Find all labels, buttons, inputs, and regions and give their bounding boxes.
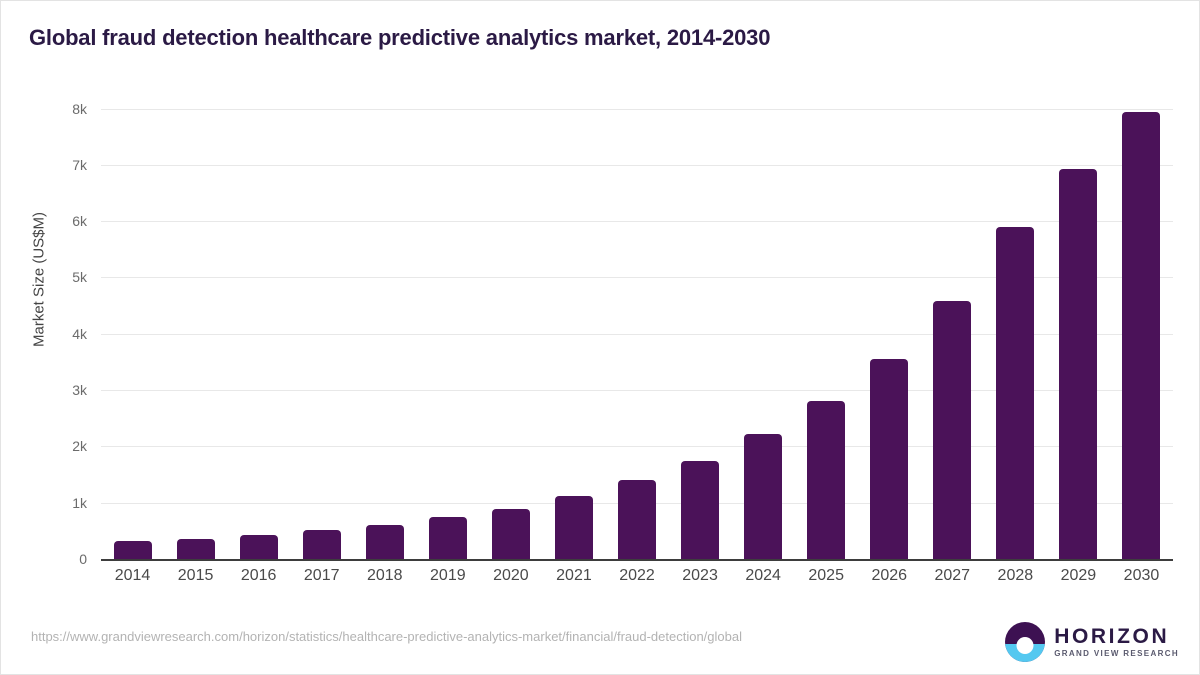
bar[interactable] xyxy=(681,461,719,559)
x-axis-tick-label: 2020 xyxy=(493,567,529,585)
bar[interactable] xyxy=(996,227,1034,559)
x-axis-tick-label: 2017 xyxy=(304,567,340,585)
chart-page: Global fraud detection healthcare predic… xyxy=(0,0,1200,675)
x-axis-tick-label: 2026 xyxy=(871,567,907,585)
horizon-sun-circle-icon xyxy=(1005,622,1045,662)
bar[interactable] xyxy=(744,434,782,559)
x-axis-tick-label: 2028 xyxy=(998,567,1034,585)
bar[interactable] xyxy=(240,535,278,559)
bar[interactable] xyxy=(177,539,215,559)
bar[interactable] xyxy=(807,401,845,559)
y-axis-tick-label: 0 xyxy=(43,551,87,567)
x-axis-tick-label: 2019 xyxy=(430,567,466,585)
footer: https://www.grandviewresearch.com/horizo… xyxy=(1,612,1200,674)
y-axis-tick-label: 8k xyxy=(43,101,87,117)
bar[interactable] xyxy=(933,301,971,559)
x-axis-tick-labels: 2014201520162017201820192020202120222023… xyxy=(101,567,1173,593)
horizon-logo: HORIZON GRAND VIEW RESEARCH xyxy=(1005,620,1179,664)
bar[interactable] xyxy=(303,530,341,559)
logo-text: HORIZON GRAND VIEW RESEARCH xyxy=(1054,626,1179,658)
y-axis-tick-label: 1k xyxy=(43,495,87,511)
y-axis-tick-label: 6k xyxy=(43,213,87,229)
y-axis-tick-label: 3k xyxy=(43,382,87,398)
x-axis-tick-label: 2029 xyxy=(1061,567,1097,585)
x-axis-tick-label: 2015 xyxy=(178,567,214,585)
plot-area: Market Size (US$M) 01k2k3k4k5k6k7k8k 201… xyxy=(1,1,1200,606)
bar[interactable] xyxy=(555,496,593,559)
logo-wordmark: HORIZON xyxy=(1054,626,1179,647)
x-axis-tick-label: 2021 xyxy=(556,567,592,585)
bar[interactable] xyxy=(870,359,908,559)
y-axis-tick-label: 2k xyxy=(43,438,87,454)
y-axis-tick-label: 4k xyxy=(43,326,87,342)
y-axis-tick-label: 7k xyxy=(43,157,87,173)
source-url[interactable]: https://www.grandviewresearch.com/horizo… xyxy=(31,629,742,644)
logo-tagline: GRAND VIEW RESEARCH xyxy=(1054,650,1179,658)
bar[interactable] xyxy=(1122,112,1160,559)
x-axis-tick-label: 2027 xyxy=(934,567,970,585)
x-axis-tick-label: 2014 xyxy=(115,567,151,585)
x-axis-tick-label: 2030 xyxy=(1124,567,1160,585)
x-axis-tick-label: 2018 xyxy=(367,567,403,585)
bar[interactable] xyxy=(618,480,656,559)
bar[interactable] xyxy=(429,517,467,559)
x-axis-tick-label: 2024 xyxy=(745,567,781,585)
x-axis-tick-label: 2023 xyxy=(682,567,718,585)
y-axis-tick-labels: 01k2k3k4k5k6k7k8k xyxy=(43,1,87,606)
bar[interactable] xyxy=(114,541,152,559)
x-axis-tick-label: 2022 xyxy=(619,567,655,585)
y-axis-tick-label: 5k xyxy=(43,269,87,285)
x-axis-tick-label: 2016 xyxy=(241,567,277,585)
bar[interactable] xyxy=(492,509,530,559)
x-axis-tick-label: 2025 xyxy=(808,567,844,585)
bar[interactable] xyxy=(366,525,404,559)
bar[interactable] xyxy=(1059,169,1097,559)
bar-series xyxy=(101,1,1173,606)
